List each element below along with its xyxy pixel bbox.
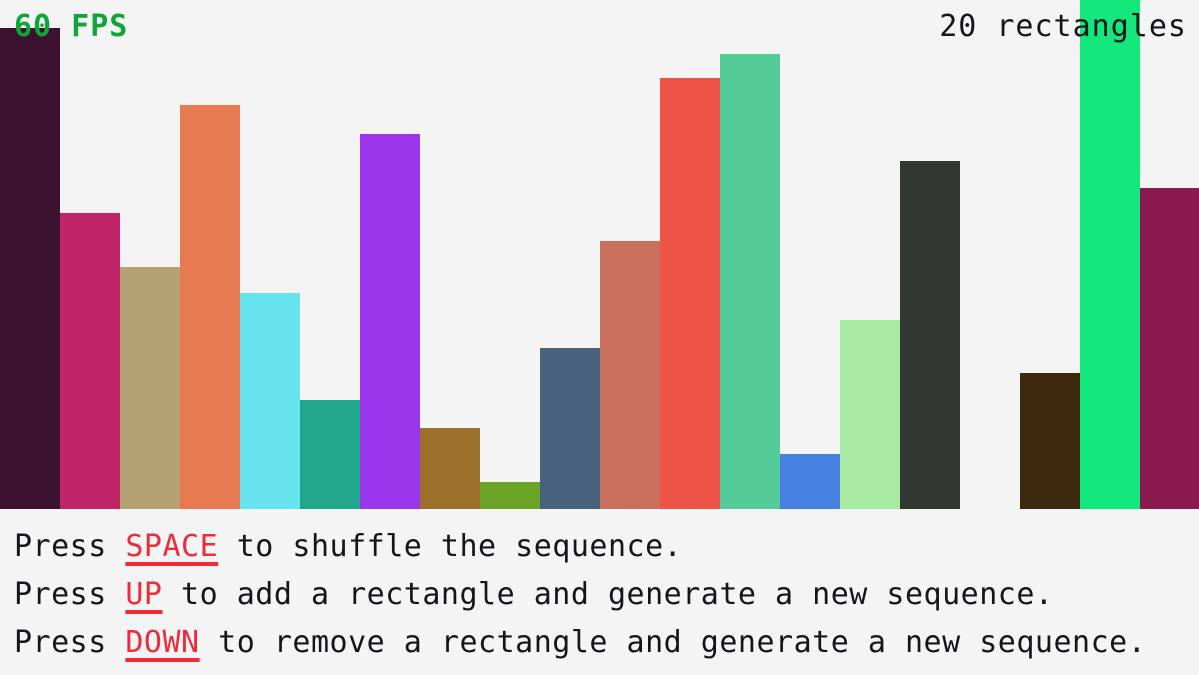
chart-bar	[660, 78, 720, 509]
keycap-space[interactable]: SPACE	[125, 529, 218, 564]
chart-bar	[360, 134, 420, 509]
keycap-up[interactable]: UP	[125, 577, 162, 612]
instruction-suffix: to shuffle the sequence.	[218, 529, 682, 564]
chart-bar	[840, 320, 900, 509]
app-root: 60 FPS 20 rectangles Press SPACE to shuf…	[0, 0, 1199, 675]
instruction-suffix: to add a rectangle and generate a new se…	[163, 577, 1054, 612]
chart-bar	[600, 241, 660, 509]
chart-bar	[240, 293, 300, 509]
chart-bar	[420, 428, 480, 509]
chart-bar	[1020, 373, 1080, 509]
chart-bar	[0, 28, 60, 509]
chart-bar	[180, 105, 240, 509]
chart-bar	[900, 161, 960, 509]
fps-counter: 60 FPS	[14, 9, 128, 44]
instruction-prefix: Press	[14, 625, 125, 660]
chart-bar	[300, 400, 360, 509]
chart-bar	[720, 54, 780, 509]
instruction-line: Press SPACE to shuffle the sequence.	[14, 523, 1199, 571]
instruction-suffix: to remove a rectangle and generate a new…	[200, 625, 1147, 660]
rectangle-count-label: 20 rectangles	[939, 9, 1187, 44]
chart-bar	[480, 482, 540, 509]
chart-bar	[780, 454, 840, 509]
instructions-panel: Press SPACE to shuffle the sequence.Pres…	[0, 509, 1199, 675]
instruction-prefix: Press	[14, 529, 125, 564]
bar-chart-canvas[interactable]	[0, 0, 1199, 509]
chart-bar	[1140, 188, 1199, 509]
chart-bar	[60, 213, 120, 509]
chart-bar	[540, 348, 600, 509]
instruction-line: Press UP to add a rectangle and generate…	[14, 571, 1199, 619]
instruction-prefix: Press	[14, 577, 125, 612]
instruction-line: Press DOWN to remove a rectangle and gen…	[14, 619, 1199, 667]
chart-bar	[120, 267, 180, 509]
keycap-down[interactable]: DOWN	[125, 625, 199, 660]
chart-bar	[1080, 0, 1140, 509]
